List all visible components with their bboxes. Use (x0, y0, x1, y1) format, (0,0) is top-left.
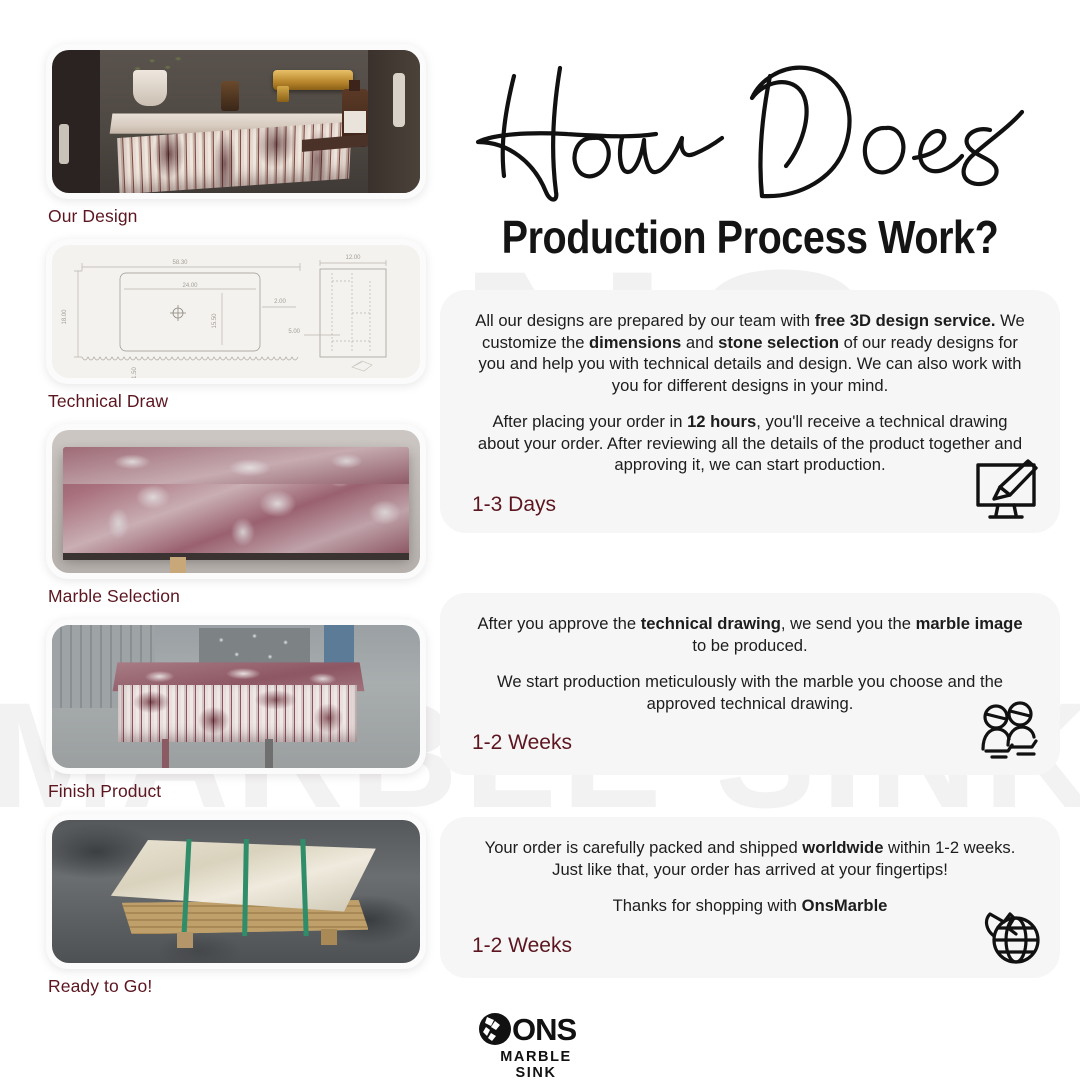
duration-badge-shipping: 1-2 Weeks (470, 932, 1030, 970)
dim-15-50: 15.50 (212, 313, 218, 329)
finished-product-photo (52, 625, 420, 768)
diffuser-bottle (221, 81, 239, 111)
dim-5-00: 5.00 (288, 329, 300, 335)
headline-script: How Does (440, 46, 1060, 214)
p1-seg6: stone selection (718, 333, 839, 352)
p3-seg1: Your order is carefully packed and shipp… (485, 838, 803, 857)
panel1-paragraph-1: All our designs are prepared by our team… (470, 310, 1030, 396)
wooden-shim (170, 557, 186, 573)
dim-2-00: 2.00 (274, 299, 286, 305)
support-leg-right (265, 739, 273, 768)
p3-seg2: worldwide (802, 838, 883, 857)
vase-decor (133, 70, 167, 106)
p2-seg2: technical drawing (641, 614, 781, 633)
brand-name: ONS (512, 1014, 576, 1045)
dim-58-30: 58.30 (172, 260, 188, 266)
brand-tagline: MARBLE SINK (478, 1049, 594, 1081)
p3b-seg1: Thanks for shopping with (613, 896, 802, 915)
panel3-paragraph-2: Thanks for shopping with OnsMarble (470, 895, 1030, 917)
two-workers-icon (970, 697, 1048, 769)
panel3-paragraph-1: Your order is carefully packed and shipp… (470, 837, 1030, 880)
packed-pallet-photo (52, 820, 420, 963)
vanity-photo (52, 50, 420, 193)
p2b-seg1: We start production meticulously with th… (497, 672, 1003, 713)
left-door-handle (59, 124, 69, 164)
panel2-paragraph-1: After you approve the technical drawing,… (470, 613, 1030, 656)
process-step-our-design: Our Design (46, 44, 426, 227)
panel-production-stage: After you approve the technical drawing,… (440, 593, 1060, 775)
p1b-seg1: After placing your order in (492, 412, 687, 431)
marble-block-top (63, 447, 409, 484)
brand-logo: ONS MARBLE SINK (478, 1012, 618, 1081)
dim-12-00: 12.00 (345, 255, 361, 261)
pallet-block-right (321, 929, 337, 945)
p2-seg3: , we send you the (781, 614, 916, 633)
photo-card-finish-product (46, 619, 426, 774)
pallet-block-left (177, 932, 193, 948)
panel-design-stage: All our designs are prepared by our team… (440, 290, 1060, 533)
photo-card-ready-to-go (46, 814, 426, 969)
duration-badge-design: 1-3 Days (470, 491, 1030, 529)
panel2-paragraph-2: We start production meticulously with th… (470, 671, 1030, 714)
globe-airplane-icon (970, 900, 1048, 972)
panel1-paragraph-2: After placing your order in 12 hours, yo… (470, 411, 1030, 476)
p1-seg4: dimensions (589, 333, 681, 352)
door-handle (393, 73, 405, 127)
process-step-technical-draw: 58.30 24.00 18.00 15.50 2.00 12.00 5.00 … (46, 239, 426, 412)
content-column: How Does Production Process Wor (440, 40, 1060, 978)
step-label-marble-selection: Marble Selection (48, 586, 426, 607)
step-label-technical-draw: Technical Draw (48, 391, 426, 412)
p3b-seg2: OnsMarble (802, 896, 888, 915)
process-photo-column: Our Design (46, 44, 426, 1009)
p1-seg1: All our designs are prepared by our team… (475, 311, 814, 330)
duration-badge-production: 1-2 Weeks (470, 729, 1030, 767)
step-label-our-design: Our Design (48, 206, 426, 227)
support-leg-left (162, 739, 169, 768)
process-step-finish-product: Finish Product (46, 619, 426, 802)
p1-seg5: and (681, 333, 718, 352)
p1b-seg2: 12 hours (687, 412, 756, 431)
dim-18-00: 18.00 (62, 309, 68, 325)
monitor-paintbrush-icon (970, 455, 1048, 527)
photo-card-marble-selection (46, 424, 426, 579)
technical-drawing-svg: 58.30 24.00 18.00 15.50 2.00 12.00 5.00 … (52, 245, 420, 378)
marble-block-base-shadow (63, 553, 409, 560)
sink-veining (118, 685, 357, 742)
step-label-finish-product: Finish Product (48, 781, 426, 802)
brand-logo-row: ONS (478, 1012, 618, 1046)
step-label-ready-to-go: Ready to Go! (48, 976, 426, 997)
photo-card-our-design (46, 44, 426, 199)
p1-seg2: free 3D design service. (815, 311, 996, 330)
dim-1-50: 1.50 (132, 367, 138, 378)
technical-drawing-image: 58.30 24.00 18.00 15.50 2.00 12.00 5.00 … (52, 245, 420, 378)
process-step-marble-selection: Marble Selection (46, 424, 426, 607)
p2-seg1: After you approve the (477, 614, 640, 633)
process-step-ready-to-go: Ready to Go! (46, 814, 426, 997)
headline-bold: Production Process Work? (483, 210, 1016, 264)
p2-seg4: marble image (916, 614, 1023, 633)
how-does-script-svg: How Does (470, 46, 1030, 214)
marble-block-photo (52, 430, 420, 573)
p2-seg5: to be produced. (692, 636, 807, 655)
dim-24-00: 24.00 (182, 283, 198, 289)
marble-stone-icon (478, 1012, 512, 1046)
panel-shipping-stage: Your order is carefully packed and shipp… (440, 817, 1060, 978)
photo-card-technical-draw: 58.30 24.00 18.00 15.50 2.00 12.00 5.00 … (46, 239, 426, 384)
gold-faucet (273, 70, 353, 90)
